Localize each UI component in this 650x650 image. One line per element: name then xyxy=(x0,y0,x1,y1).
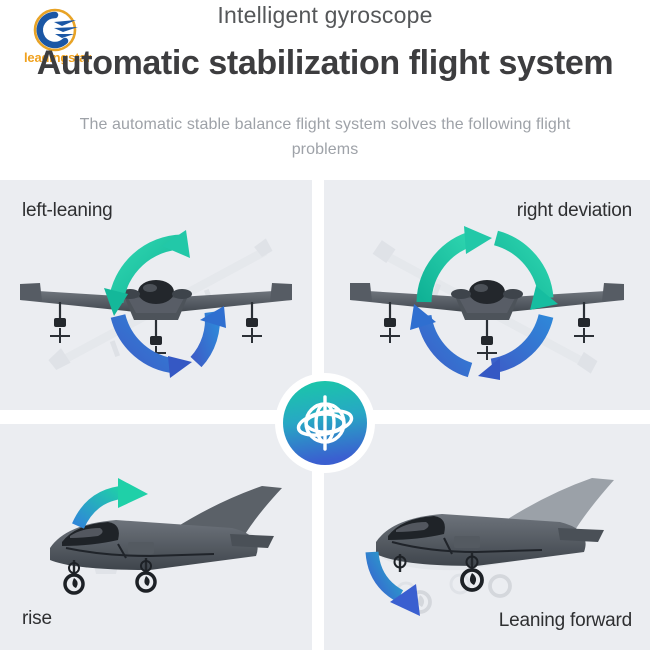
teal-rise-arrow xyxy=(78,478,148,526)
aircraft-front xyxy=(350,280,624,360)
product-infographic-page: leadingstar Intelligent gyroscope Automa… xyxy=(0,0,650,650)
panel-label-right-deviation: right deviation xyxy=(517,200,632,222)
panel-label-leaning-forward: Leaning forward xyxy=(499,610,632,632)
center-gyroscope-badge xyxy=(275,373,375,473)
eyebrow-text: Intelligent gyroscope xyxy=(0,2,650,29)
aircraft-front xyxy=(20,280,292,360)
panel-label-left-leaning: left-leaning xyxy=(22,200,113,222)
panel-left-leaning: left-leaning xyxy=(0,180,312,410)
page-title: Automatic stabilization flight system xyxy=(0,44,650,83)
aircraft-side xyxy=(50,486,282,593)
panel-rise: rise xyxy=(0,424,312,650)
gyroscope-sphere-icon xyxy=(283,381,367,465)
panel-label-rise: rise xyxy=(22,608,52,630)
page-subtitle: The automatic stable balance flight syst… xyxy=(75,112,575,162)
